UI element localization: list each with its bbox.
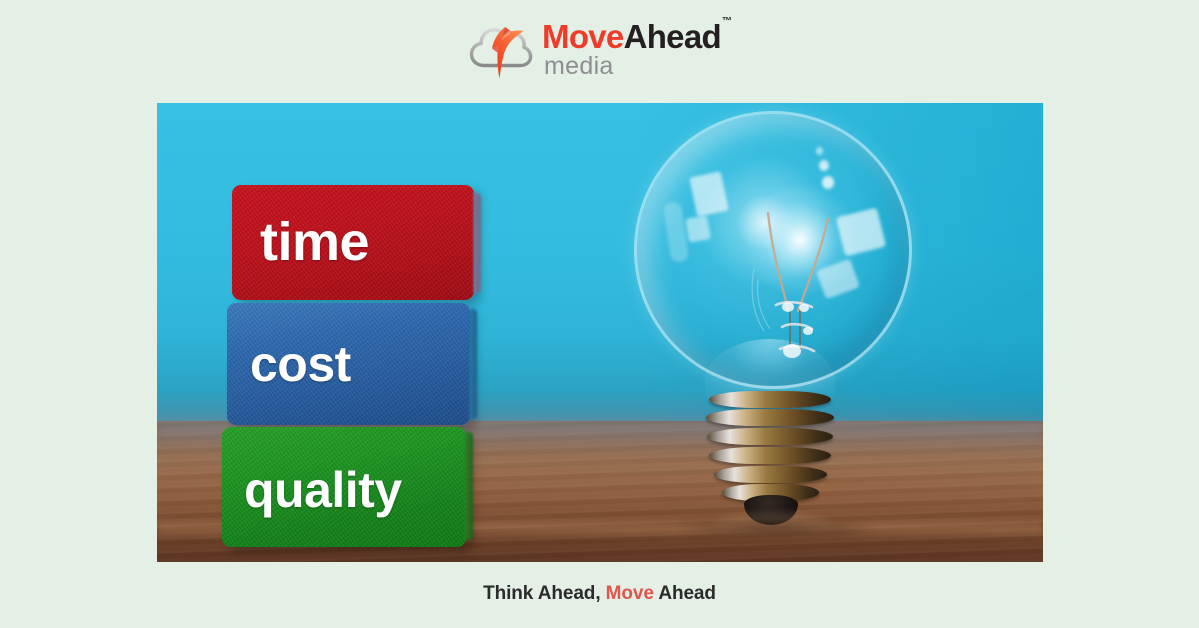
- block-side-edge: [465, 432, 473, 540]
- caption-text-part1: Think Ahead,: [483, 583, 606, 604]
- bulb-highlight: [816, 147, 823, 155]
- caption-text-part2: Ahead: [654, 583, 716, 604]
- bulb-glass-globe: [634, 111, 912, 389]
- tagline-caption: Think Ahead, Move Ahead: [0, 583, 1199, 605]
- bulb-highlight: [836, 208, 886, 257]
- page-header: MoveAhead™ media: [0, 0, 1199, 100]
- block-quality: quality: [222, 427, 466, 547]
- bulb-thread: [709, 391, 831, 408]
- block-cost: cost: [227, 303, 470, 425]
- block-time: time: [232, 185, 474, 300]
- logo-primary-text: MoveAhead™: [542, 20, 731, 53]
- block-label-quality: quality: [244, 465, 402, 515]
- bulb-highlight: [685, 215, 711, 242]
- bulb-highlight: [819, 160, 829, 171]
- bulb-thread: [707, 428, 833, 445]
- bulb-thread: [709, 447, 831, 464]
- logo-trademark-symbol: ™: [722, 16, 732, 27]
- brand-logo[interactable]: MoveAhead™ media: [468, 19, 731, 81]
- block-label-time: time: [260, 215, 369, 269]
- logo-word-move: Move: [542, 18, 624, 55]
- logo-subtitle: media: [544, 54, 731, 79]
- block-side-edge: [469, 309, 477, 419]
- stacked-blocks-group: time cost quality: [220, 183, 480, 549]
- block-label-cost: cost: [250, 339, 351, 389]
- bulb-cast-shadow: [682, 521, 872, 537]
- bulb-highlight: [663, 201, 689, 263]
- bulb-highlight: [822, 176, 834, 189]
- caption-highlight-move: Move: [606, 583, 654, 604]
- bulb-highlight: [689, 171, 729, 217]
- bulb-thread: [714, 466, 827, 483]
- bulb-metal-screw-base: [706, 391, 834, 519]
- cloud-arrow-logo-icon: [468, 21, 534, 79]
- light-bulb: [612, 103, 942, 562]
- logo-word-ahead: Ahead: [624, 18, 721, 55]
- hero-photo: time cost quality: [157, 103, 1043, 562]
- logo-wordmark: MoveAhead™ media: [542, 20, 731, 81]
- bulb-thread: [706, 409, 834, 426]
- block-side-edge: [473, 193, 481, 293]
